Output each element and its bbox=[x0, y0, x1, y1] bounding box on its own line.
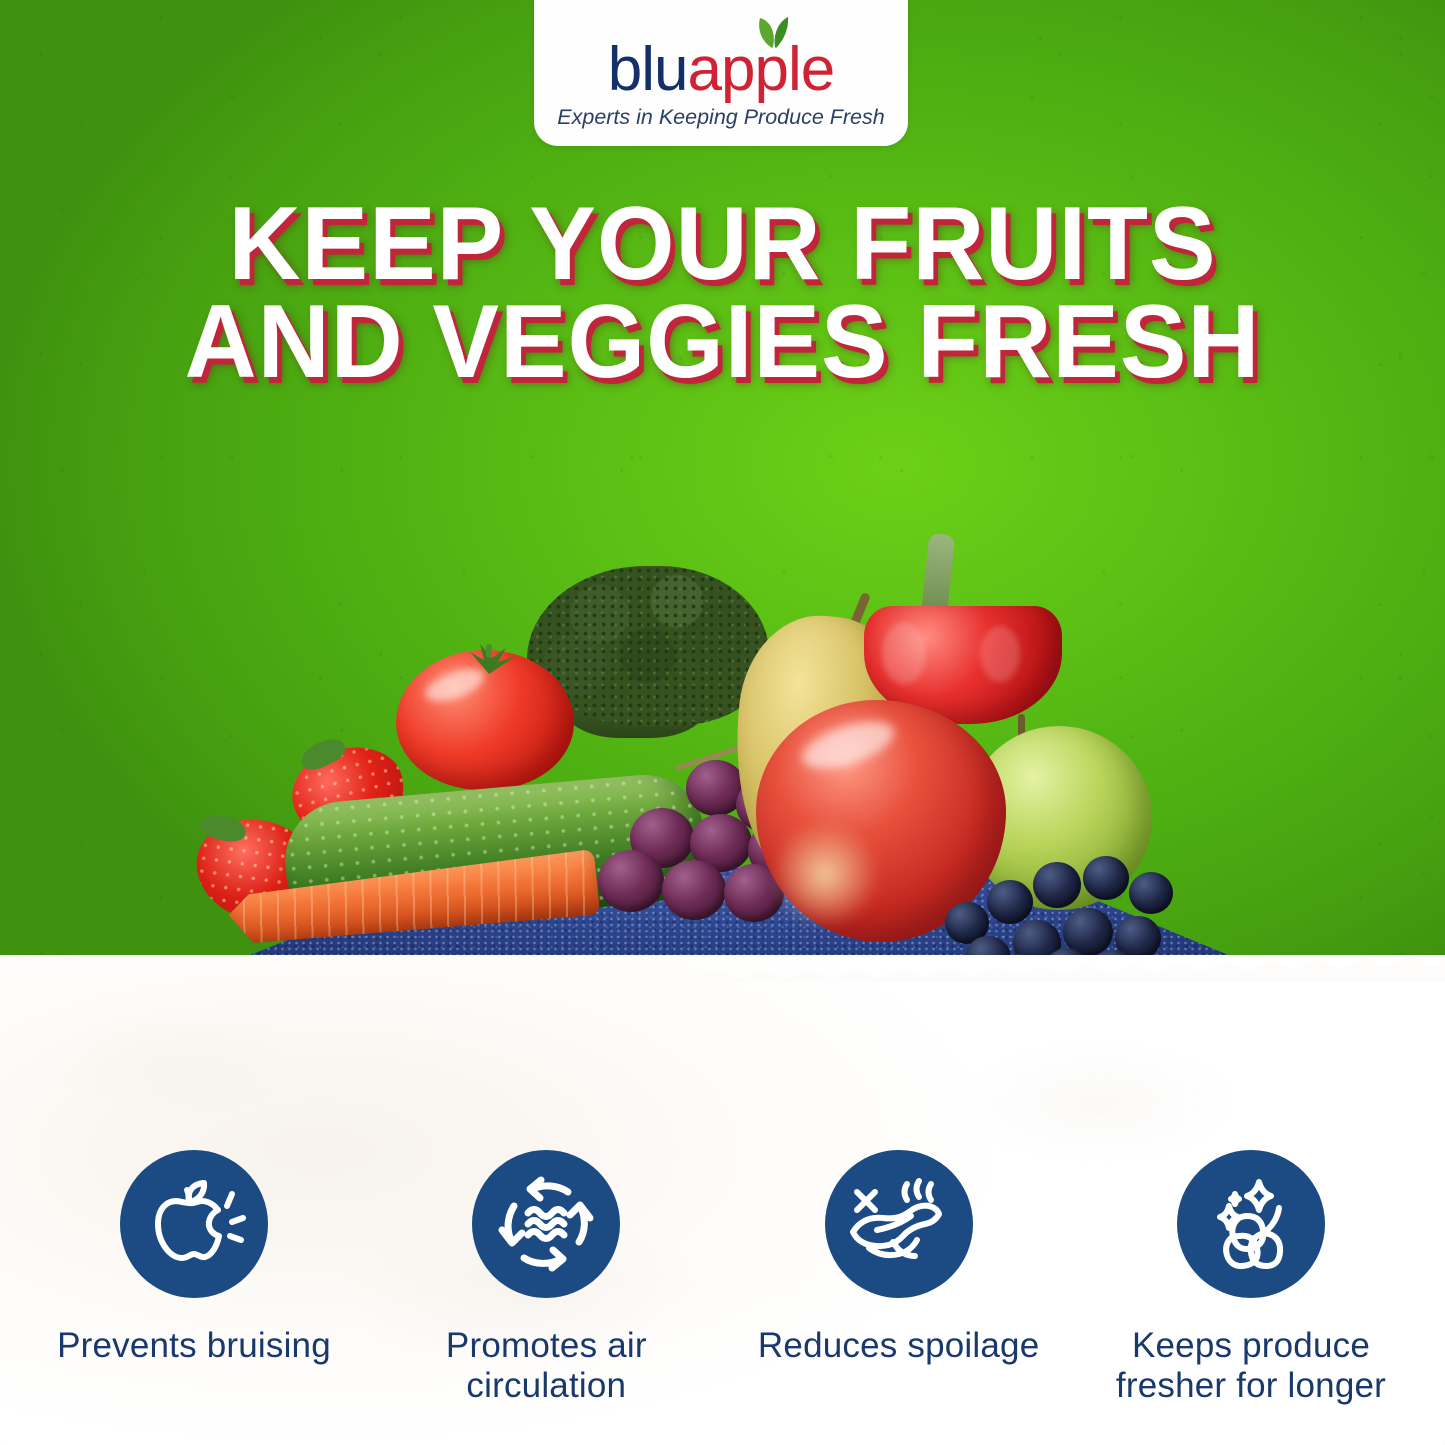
benefit-label: Reduces spoilage bbox=[758, 1326, 1039, 1366]
logo-tagline: Experts in Keeping Produce Fresh bbox=[557, 105, 884, 130]
blueberry bbox=[1033, 862, 1081, 908]
brand-logo: bluapple Experts in Keeping Produce Fres… bbox=[534, 0, 908, 146]
pepper-highlight bbox=[980, 626, 1020, 682]
benefit-promotes-air-circulation[interactable]: Promotes aircirculation bbox=[376, 1150, 716, 1406]
air-circulation-icon bbox=[494, 1172, 598, 1276]
logo-text-blu: blu bbox=[608, 35, 688, 104]
grape bbox=[662, 860, 726, 920]
pepper-highlight bbox=[882, 622, 926, 684]
spoiled-produce-icon bbox=[847, 1172, 951, 1276]
apple-leaf-icon bbox=[744, 15, 806, 49]
benefits-row: Prevents bruising bbox=[0, 1150, 1445, 1440]
benefit-prevents-bruising[interactable]: Prevents bruising bbox=[24, 1150, 364, 1366]
red-apple-blush bbox=[770, 820, 880, 928]
grape bbox=[598, 850, 664, 912]
benefit-icon-circle bbox=[1177, 1150, 1325, 1298]
bruised-apple-icon bbox=[142, 1172, 246, 1276]
benefit-reduces-spoilage[interactable]: Reduces spoilage bbox=[729, 1150, 1069, 1366]
benefit-keeps-produce-fresher[interactable]: Keeps producefresher for longer bbox=[1081, 1150, 1421, 1406]
benefit-icon-circle bbox=[825, 1150, 973, 1298]
benefit-label: Keeps producefresher for longer bbox=[1116, 1326, 1386, 1406]
blueberry bbox=[1083, 856, 1129, 900]
tomato-calyx-icon bbox=[452, 644, 526, 678]
promo-poster: bluapple Experts in Keeping Produce Fres… bbox=[0, 0, 1445, 1445]
benefit-icon-circle bbox=[472, 1150, 620, 1298]
benefit-label: Promotes aircirculation bbox=[446, 1326, 647, 1406]
blueberry bbox=[1129, 872, 1173, 914]
benefit-icon-circle bbox=[120, 1150, 268, 1298]
fresh-berries-sparkle-icon bbox=[1199, 1172, 1303, 1276]
benefit-label: Prevents bruising bbox=[57, 1326, 331, 1366]
blueberry bbox=[987, 880, 1033, 924]
logo-wordmark: bluapple bbox=[608, 39, 834, 101]
